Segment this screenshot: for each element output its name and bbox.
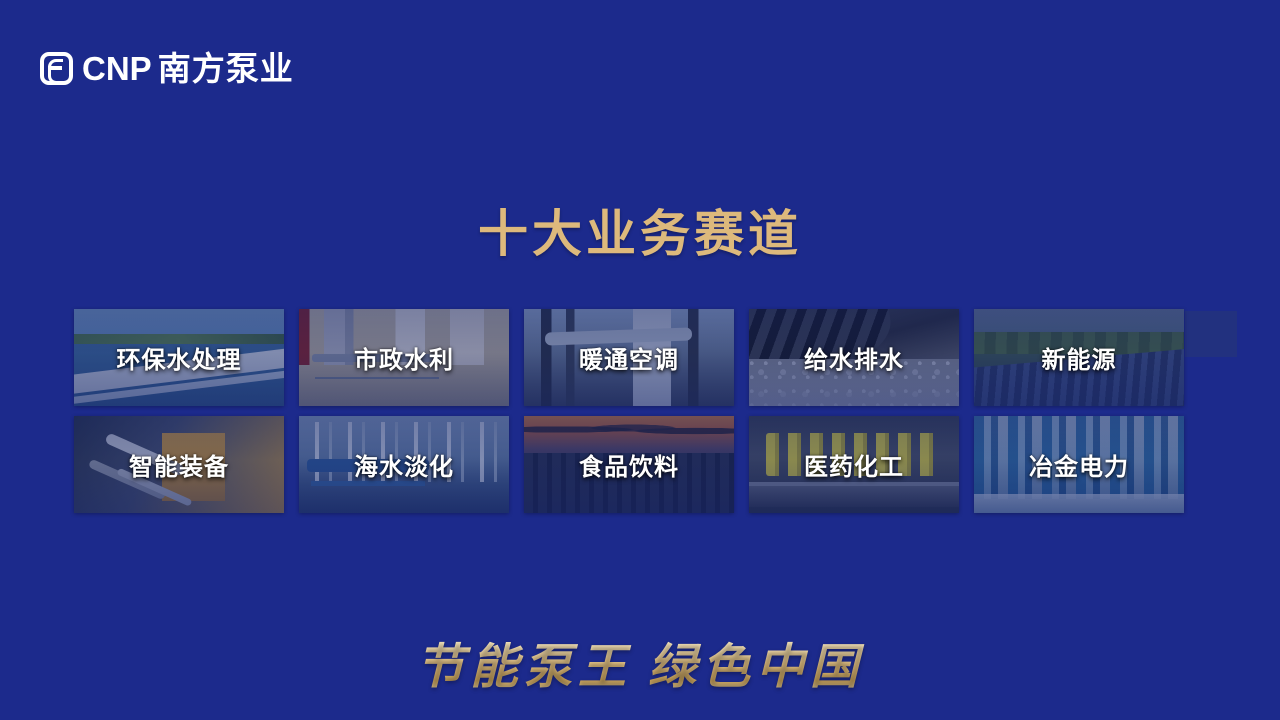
business-card-label: 冶金电力	[1029, 447, 1129, 482]
business-card-label: 医药化工	[804, 447, 904, 482]
business-card-9[interactable]: 医药化工	[749, 416, 959, 513]
business-card-7[interactable]: 海水淡化	[299, 416, 509, 513]
brand-logo: CNP南方泵业	[40, 52, 294, 85]
business-card-6[interactable]: 智能装备	[74, 416, 284, 513]
slogan-footer: 节能泵王绿色中国	[0, 636, 1280, 698]
business-card-label: 新能源	[1042, 340, 1117, 375]
brand-chinese: 南方泵业	[158, 50, 294, 87]
business-card-4[interactable]: 给水排水	[749, 309, 959, 406]
business-card-3[interactable]: 暖通空调	[524, 309, 734, 406]
business-card-8[interactable]: 食品饮料	[524, 416, 734, 513]
brand-wordmark: CNP南方泵业	[82, 52, 294, 85]
slogan-right: 绿色中国	[648, 639, 864, 695]
business-card-label: 海水淡化	[354, 447, 454, 482]
business-card-1[interactable]: 环保水处理	[74, 309, 284, 406]
brand-latin: CNP	[82, 50, 152, 87]
business-card-2[interactable]: 市政水利	[299, 309, 509, 406]
page-title: 十大业务赛道	[0, 206, 1280, 262]
slide-canvas: CNP南方泵业 十大业务赛道 环保水处理 市政水利 暖通空调 给水排水	[0, 0, 1280, 720]
business-card-10[interactable]: 冶金电力	[974, 416, 1184, 513]
business-card-label: 市政水利	[354, 340, 454, 375]
business-card-label: 智能装备	[129, 447, 229, 482]
cnp-pump-logo-icon	[40, 52, 73, 85]
decorative-panel	[1185, 311, 1237, 357]
business-card-label: 环保水处理	[117, 340, 242, 375]
business-track-grid: 环保水处理 市政水利 暖通空调 给水排水 新能源 智能装备	[74, 309, 1186, 513]
slogan-left: 节能泵王	[416, 639, 632, 695]
business-card-label: 食品饮料	[579, 447, 679, 482]
business-card-label: 给水排水	[804, 340, 904, 375]
business-card-5[interactable]: 新能源	[974, 309, 1184, 406]
business-card-label: 暖通空调	[579, 340, 679, 375]
